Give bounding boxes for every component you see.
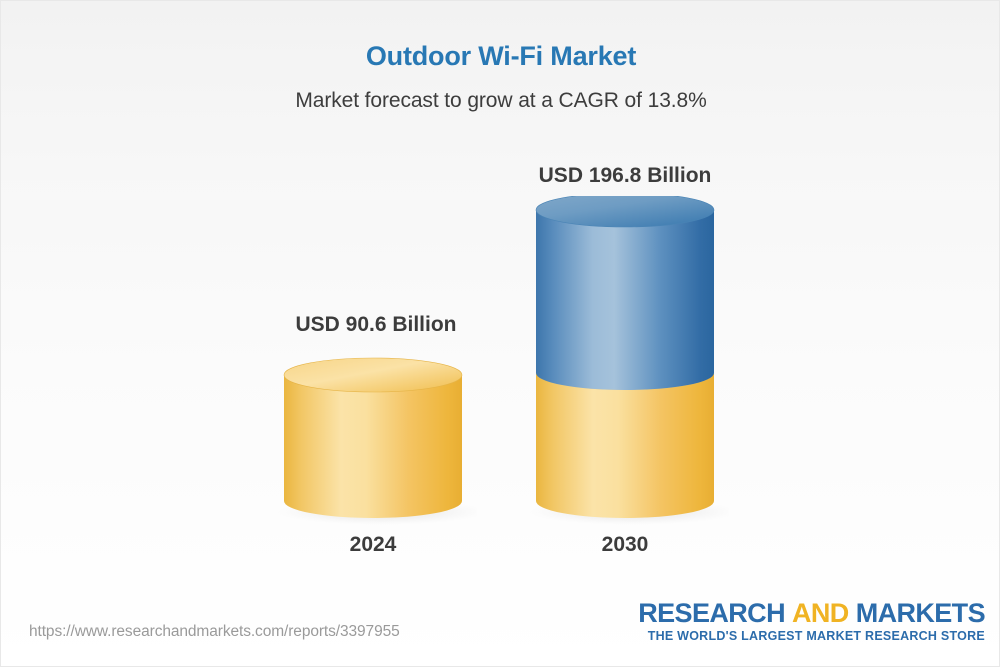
category-label-2024: 2024	[273, 533, 473, 557]
logo-tagline: THE WORLD'S LARGEST MARKET RESEARCH STOR…	[638, 629, 985, 643]
value-label-2024: USD 90.6 Billion	[246, 313, 506, 337]
value-label-2030: USD 196.8 Billion	[495, 164, 755, 188]
bar-segment-base	[536, 373, 714, 518]
plot-area: USD 90.6 Billion 2024	[1, 1, 1000, 601]
bar-segment-growth	[536, 210, 714, 390]
bar-body	[284, 375, 462, 518]
category-label-2030: 2030	[525, 533, 725, 557]
bar-2030[interactable]	[521, 196, 729, 526]
logo-word-markets: MARKETS	[856, 598, 985, 628]
chart-canvas: Outdoor Wi-Fi Market Market forecast to …	[0, 0, 1000, 667]
bar-2024[interactable]	[269, 346, 477, 526]
logo-wordmark: RESEARCHANDMARKETS	[638, 599, 985, 627]
bar-top-cap	[284, 358, 462, 392]
source-url[interactable]: https://www.researchandmarkets.com/repor…	[29, 623, 400, 641]
bar-top-cap	[536, 196, 714, 227]
logo-word-research: RESEARCH	[638, 598, 785, 628]
logo-word-and: AND	[792, 598, 849, 628]
research-and-markets-logo[interactable]: RESEARCHANDMARKETS THE WORLD'S LARGEST M…	[638, 599, 985, 643]
